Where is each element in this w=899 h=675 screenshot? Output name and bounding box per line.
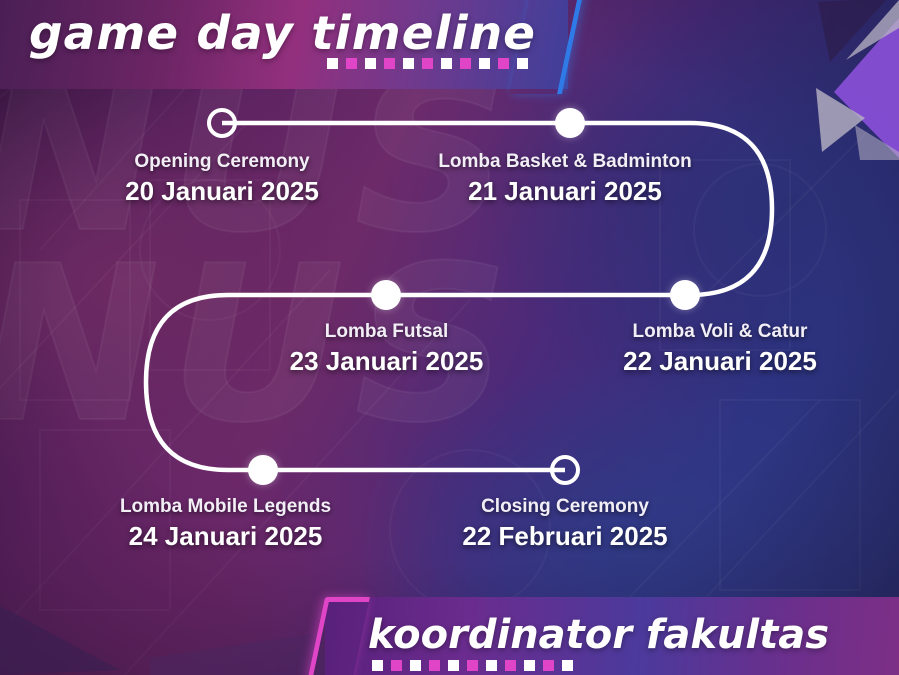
accent-square bbox=[543, 660, 554, 671]
event-date: 24 Januari 2025 bbox=[48, 520, 403, 552]
timeline-node-4[interactable] bbox=[371, 280, 401, 310]
event-name: Lomba Voli & Catur bbox=[540, 320, 899, 344]
accent-square bbox=[467, 660, 478, 671]
accent-square bbox=[524, 660, 535, 671]
event-date: 23 Januari 2025 bbox=[214, 345, 559, 377]
accent-square bbox=[505, 660, 516, 671]
timeline-entry-closing-ceremony: Closing Ceremony 22 Februari 2025 bbox=[395, 495, 735, 552]
poster-root: NUS NUS bbox=[0, 0, 899, 675]
event-name: Lomba Basket & Badminton bbox=[370, 150, 760, 174]
timeline-node-5[interactable] bbox=[248, 455, 278, 485]
accent-square bbox=[429, 660, 440, 671]
timeline-node-3[interactable] bbox=[670, 280, 700, 310]
accent-square bbox=[448, 660, 459, 671]
timeline-node-2[interactable] bbox=[555, 108, 585, 138]
event-name: Lomba Mobile Legends bbox=[48, 495, 403, 519]
event-name: Closing Ceremony bbox=[395, 495, 735, 519]
timeline-node-1[interactable] bbox=[207, 108, 237, 138]
footer-title: koordinator fakultas bbox=[368, 612, 829, 658]
accent-square bbox=[486, 660, 497, 671]
timeline-node-6[interactable] bbox=[550, 455, 580, 485]
timeline-entry-voli-catur: Lomba Voli & Catur 22 Januari 2025 bbox=[540, 320, 899, 377]
footer-square-row bbox=[372, 660, 573, 671]
event-name: Lomba Futsal bbox=[214, 320, 559, 344]
timeline-entry-futsal: Lomba Futsal 23 Januari 2025 bbox=[214, 320, 559, 377]
accent-square bbox=[372, 660, 383, 671]
event-date: 22 Januari 2025 bbox=[540, 345, 899, 377]
accent-square bbox=[410, 660, 421, 671]
event-date: 22 Februari 2025 bbox=[395, 520, 735, 552]
timeline-entry-mobile-legends: Lomba Mobile Legends 24 Januari 2025 bbox=[48, 495, 403, 552]
accent-square bbox=[391, 660, 402, 671]
event-date: 21 Januari 2025 bbox=[370, 175, 760, 207]
accent-square bbox=[562, 660, 573, 671]
timeline-entry-basket-badminton: Lomba Basket & Badminton 21 Januari 2025 bbox=[370, 150, 760, 207]
